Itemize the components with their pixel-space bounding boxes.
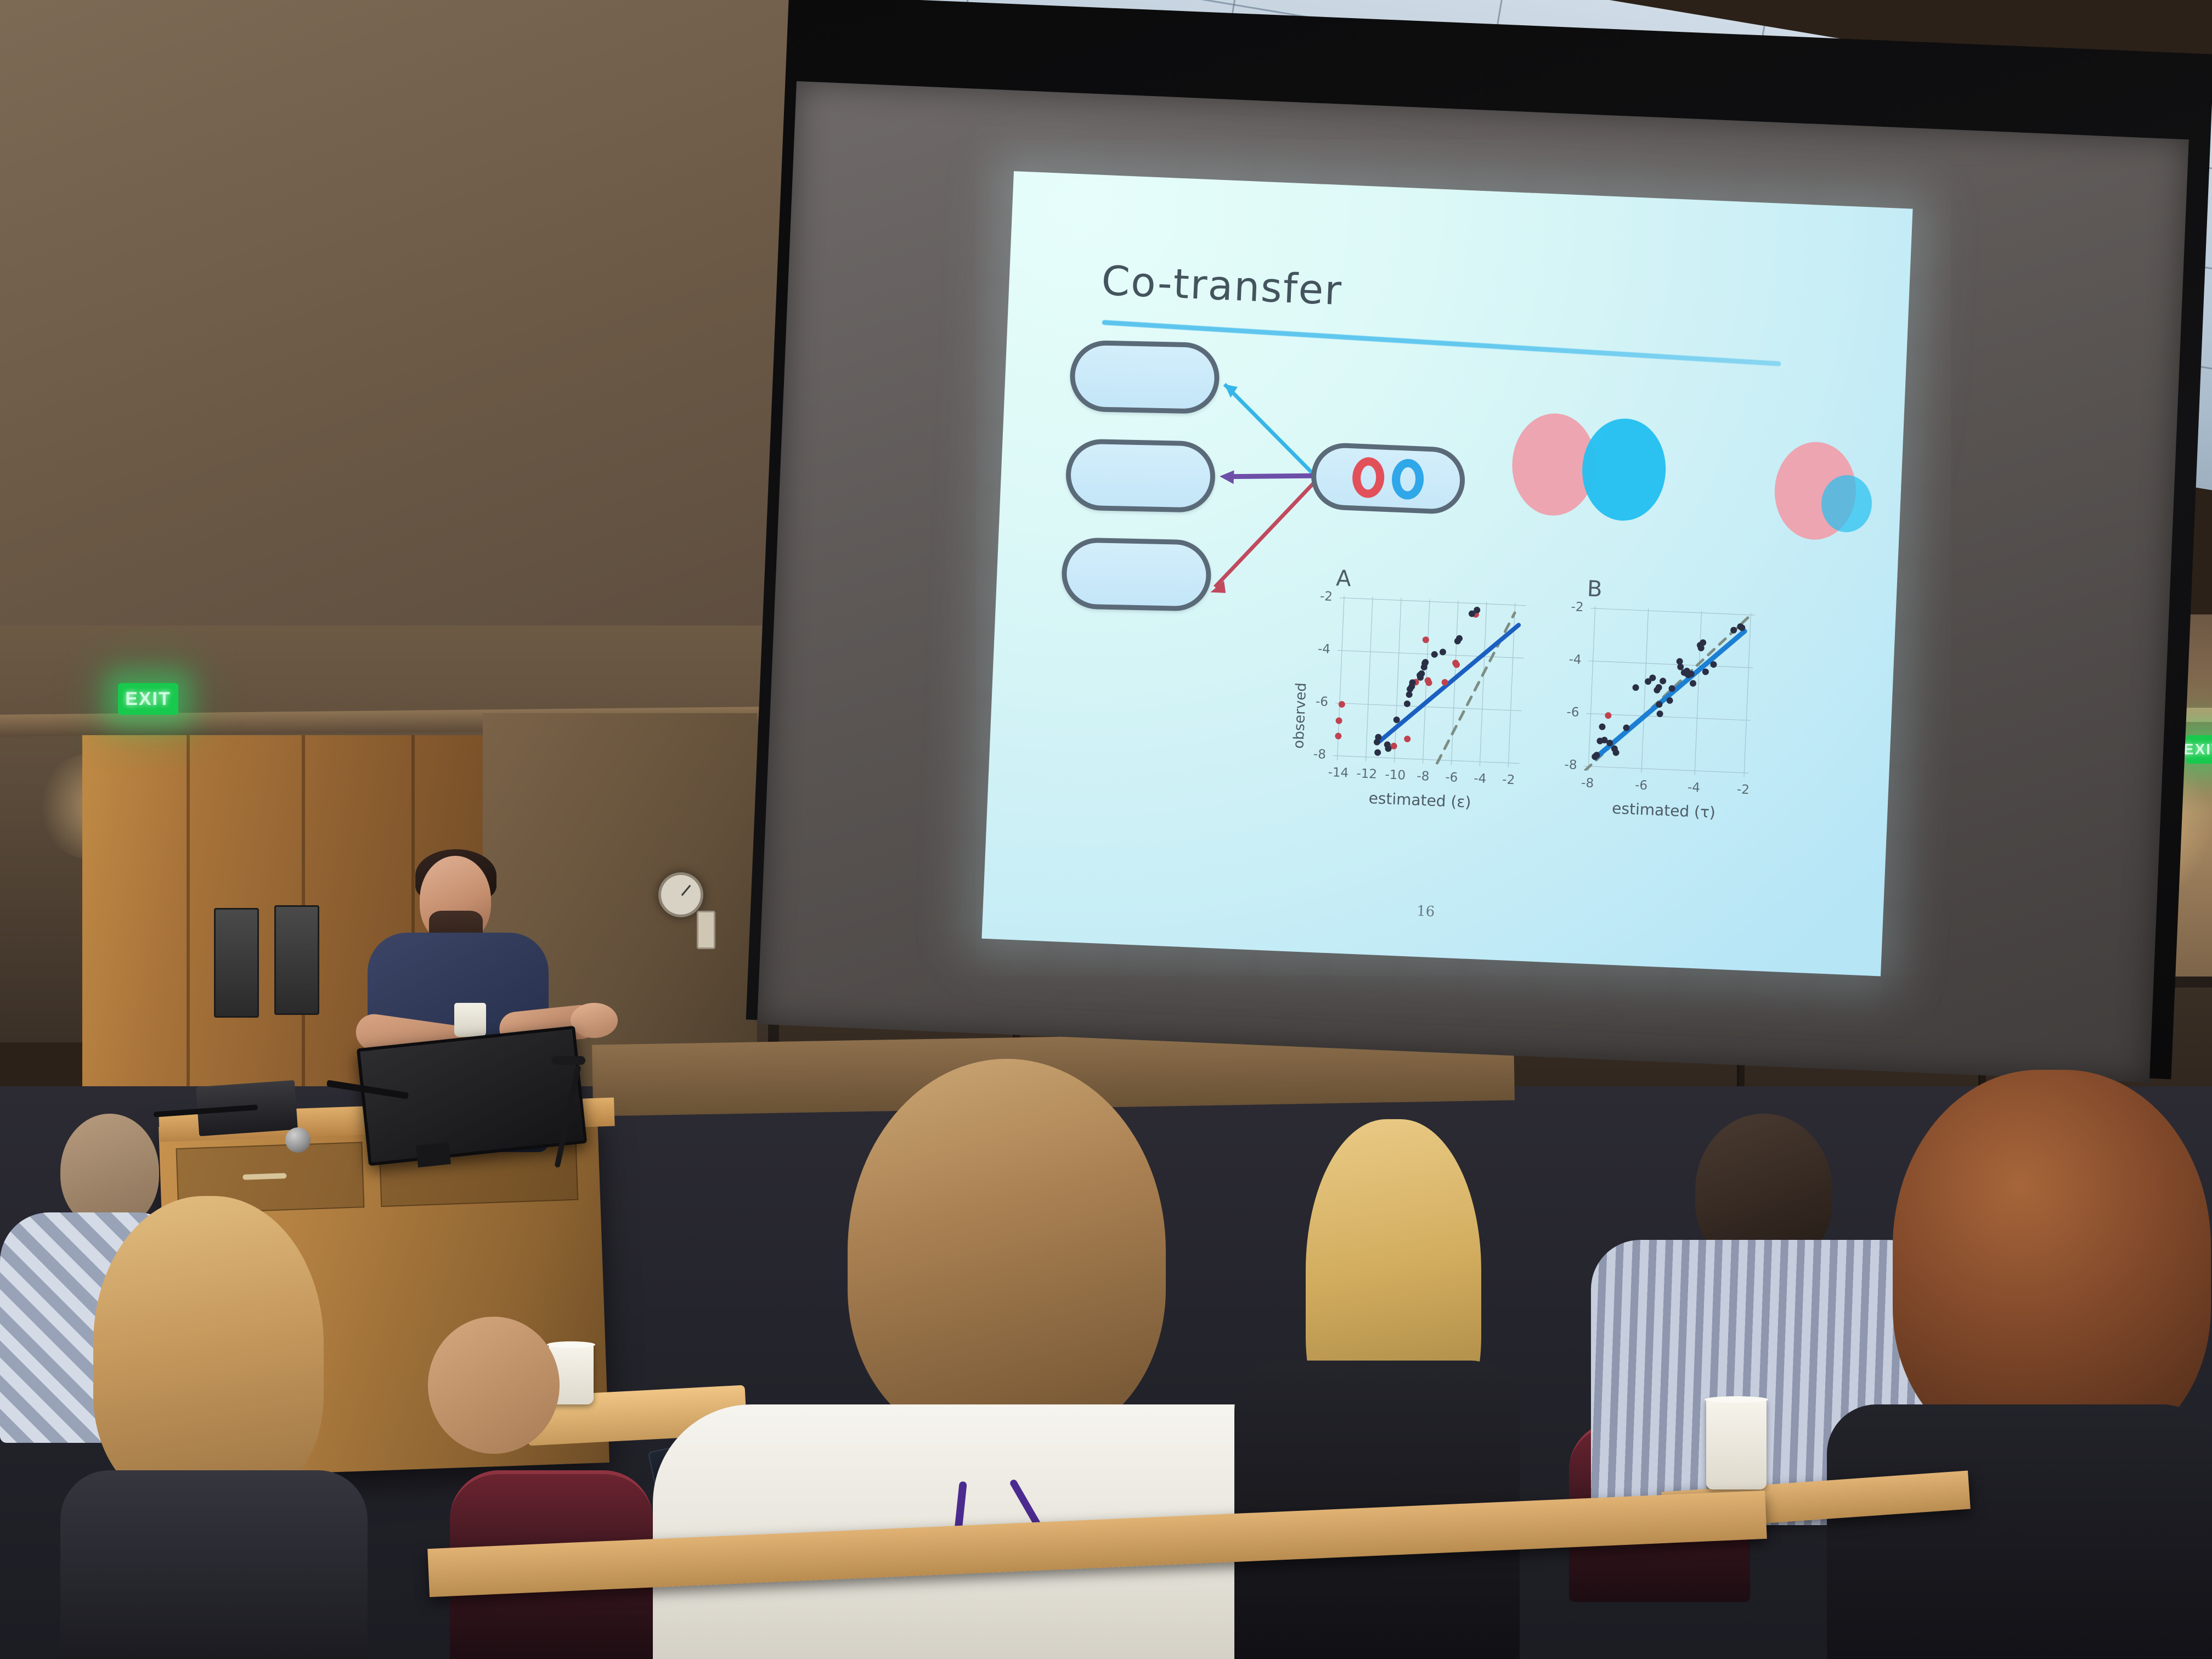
wall-speaker-left [214,908,259,1018]
hub-ring-red-icon [1352,456,1385,498]
panel-a-ytick: -6 [1315,695,1328,709]
panel-a-letter: A [1335,566,1351,591]
slide-page-number: 16 [1417,903,1435,920]
scatter-panel-a: A observed [1293,568,1541,852]
attendee-left-long-blond-head [93,1196,324,1503]
attendee-left-arm [428,1317,560,1454]
speaker-hand [571,1003,618,1038]
diagram-node-3[interactable] [1061,537,1212,612]
panel-a-xtick: -6 [1445,770,1458,785]
panel-b-ytick: -2 [1571,600,1584,614]
attendee-left-long-blond-body [60,1470,368,1659]
panel-a-xtick: -10 [1385,768,1406,783]
panel-b-ytick: -6 [1566,705,1579,720]
wall-speaker-right [274,905,319,1015]
wall-clock [658,872,703,917]
panel-a-xtick: -12 [1356,766,1378,782]
exit-sign-right: EXIT [2186,735,2212,764]
venn-diagram-partial-overlap [1510,412,1679,523]
speaker-cup [454,1003,486,1037]
panel-a-xlabel: estimated (ε) [1368,789,1471,811]
panel-a-xtick: -2 [1502,772,1515,787]
panel-b-letter: B [1587,576,1602,602]
attendee-far-right-curly-head [1893,1070,2211,1454]
hub-ring-blue-icon [1391,458,1425,500]
venn-blue-set [1580,417,1668,522]
lecture-hall-photo: EXIT EXIT Co-transfer [0,0,2212,1659]
panel-b-ytick: -4 [1568,652,1582,667]
diagram-node-2[interactable] [1065,438,1216,513]
podium-monitor-stand [416,1142,451,1167]
projected-slide: Co-transfer [981,171,1912,976]
exit-sign-right-label: EXIT [2183,741,2212,758]
panel-b-xtick: -2 [1736,782,1750,797]
scatter-panel-b: B [1545,578,1776,861]
control-knob[interactable] [285,1127,311,1153]
panel-b-xlabel: estimated (τ) [1612,799,1716,822]
cup-right-desk [1706,1399,1767,1489]
diagram-node-1[interactable] [1069,340,1220,414]
venn-diagram-nested [1773,441,1870,543]
slide-title: Co-transfer [1101,257,1343,314]
panel-b-plot [1584,606,1755,777]
panel-b-xtick: -6 [1635,778,1648,793]
diagram-hub-node[interactable] [1310,442,1466,515]
panel-b-xtick: -8 [1581,776,1594,791]
microphone-head [551,1056,585,1065]
exit-sign-left-label: EXIT [125,689,171,710]
panel-a-xtick: -8 [1417,769,1430,784]
attendee-front-blond-head [848,1059,1166,1443]
attendee-left-plaid-head [60,1114,159,1229]
panel-a-ylabel: observed [1290,682,1310,749]
panel-a-ytick: -2 [1319,589,1333,604]
panel-a-xtick: -14 [1328,765,1349,781]
panel-a-ytick: -4 [1317,642,1330,657]
attendee-far-right-curly-body [1827,1404,2212,1659]
exit-sign-left: EXIT [118,683,178,715]
panel-a-plot [1333,596,1526,768]
wall-outlet [697,911,715,949]
panel-b-xtick: -4 [1687,780,1700,795]
panel-a-ytick: -8 [1313,747,1326,762]
panel-b-ytick: -8 [1564,758,1577,772]
panel-a-xtick: -4 [1474,771,1487,786]
